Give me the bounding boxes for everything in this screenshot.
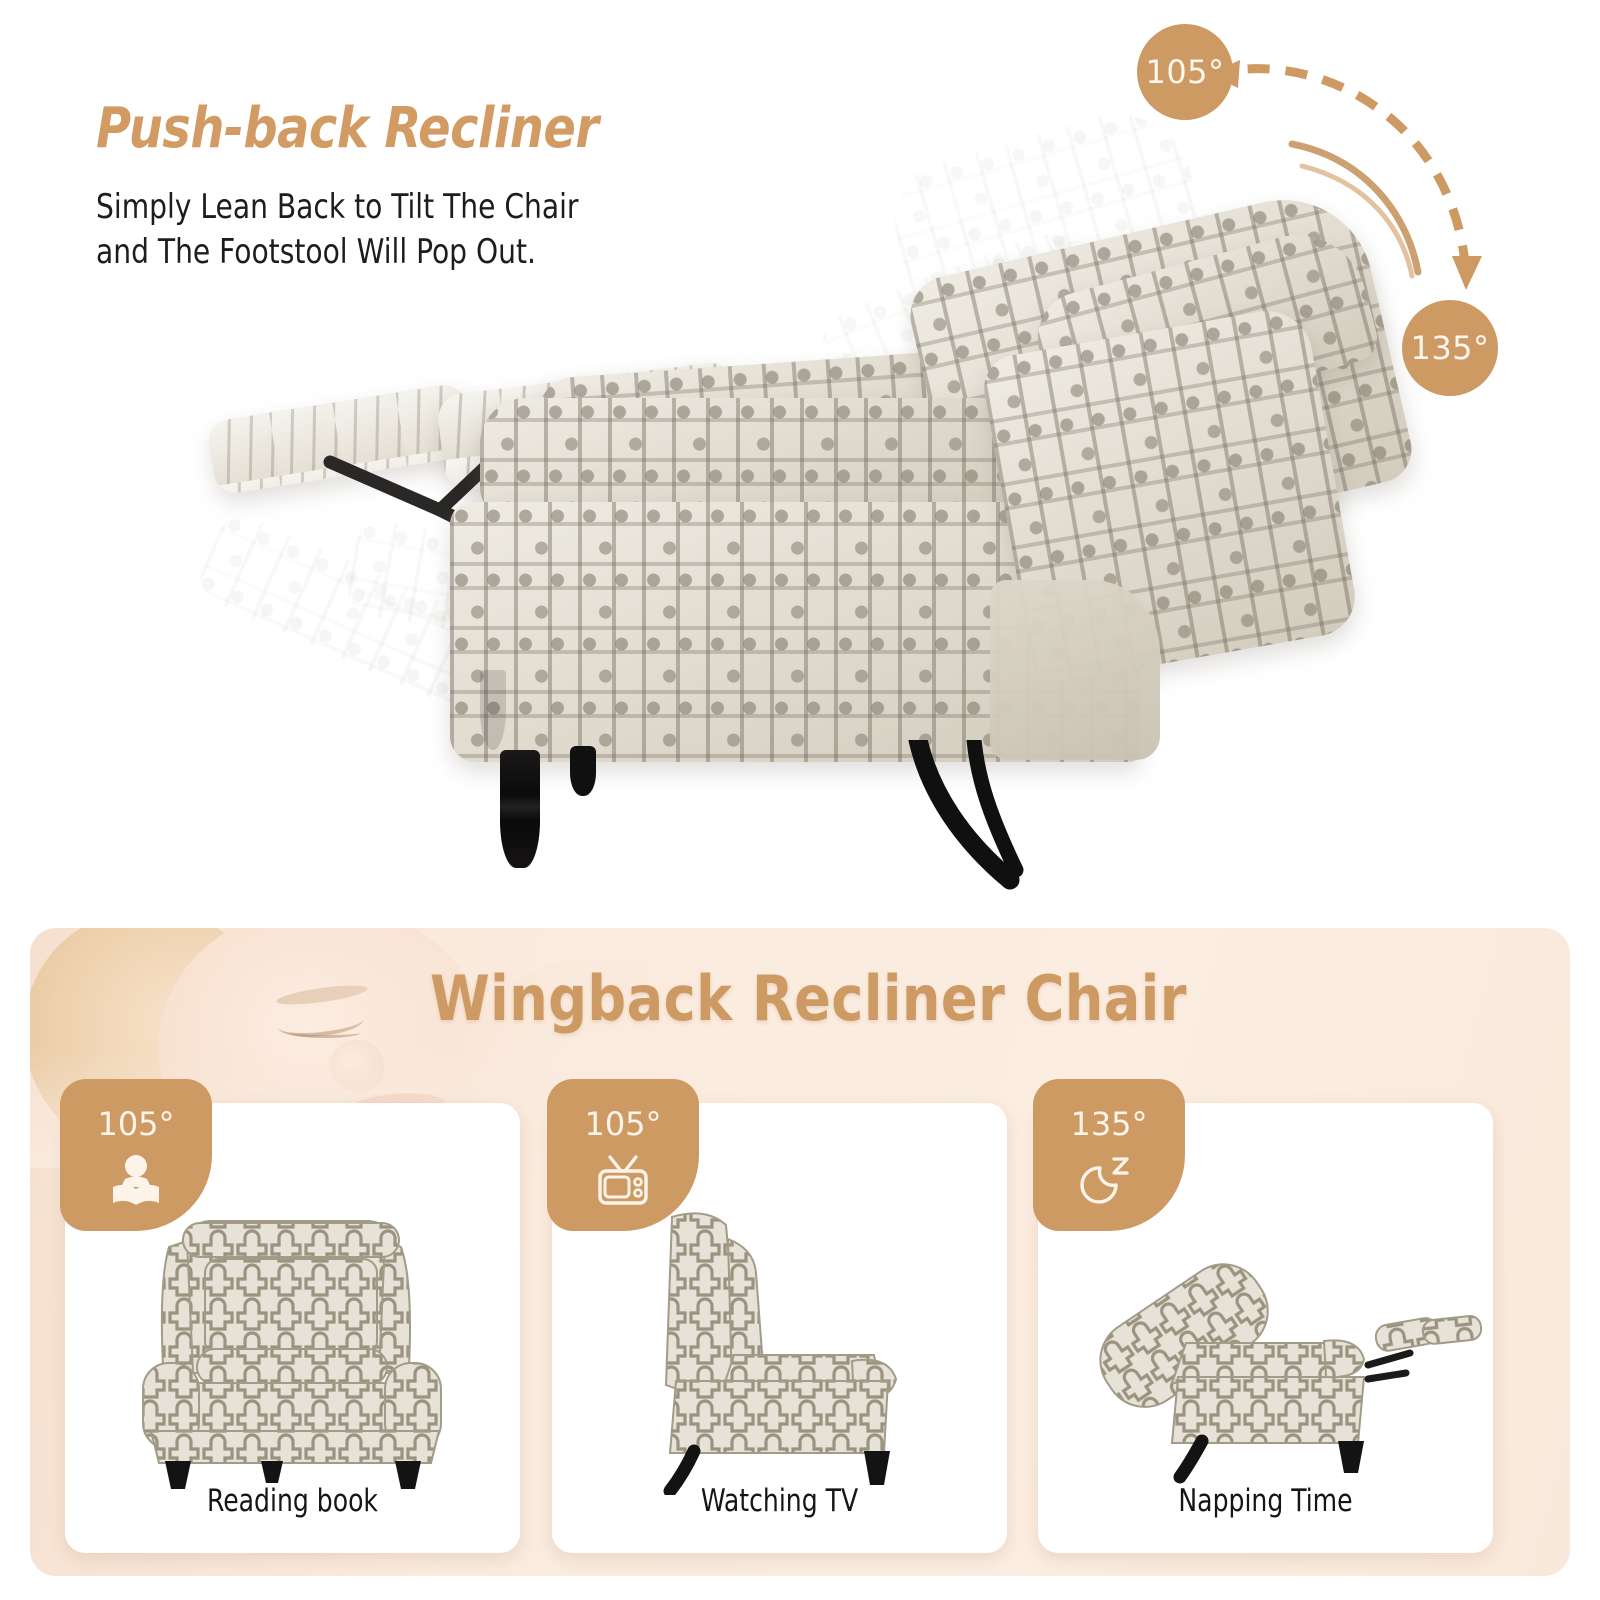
card-badge-reading: 105° <box>60 1079 212 1231</box>
angle-badge-105-label: 105° <box>1145 53 1224 91</box>
angle-badge-135: 135° <box>1402 300 1498 396</box>
scenario-card-tv[interactable]: 105° Watching TV <box>552 1103 1007 1553</box>
scenario-card-napping[interactable]: 135° Napping Time <box>1038 1103 1493 1553</box>
angle-badge-105: 105° <box>1137 24 1233 120</box>
recliner-mid-leg <box>570 746 596 796</box>
television-icon <box>594 1151 652 1209</box>
card-angle-label: 105° <box>584 1105 661 1143</box>
card-caption-reading: Reading book <box>88 1483 498 1519</box>
card-caption-tv: Watching TV <box>575 1483 985 1519</box>
angle-badge-135-label: 135° <box>1410 329 1489 367</box>
reading-person-icon <box>107 1151 165 1209</box>
wingback-recliner-reclined-view <box>1038 1195 1493 1495</box>
recliner-rear-leg <box>890 740 1050 890</box>
infographic-page: Push-back Recliner Simply Lean Back to T… <box>0 0 1600 1600</box>
scenario-card-reading[interactable]: 105° Reading book <box>65 1103 520 1553</box>
card-badge-tv: 105° <box>547 1079 699 1231</box>
moon-sleep-icon <box>1080 1151 1138 1209</box>
recline-arc-arrow-icon <box>1180 40 1540 360</box>
card-angle-label: 135° <box>1070 1105 1147 1143</box>
recliner-back-skirt <box>990 580 1160 760</box>
section-title: Wingback Recliner Chair <box>430 962 1187 1035</box>
recliner-ghost-leg <box>480 670 506 750</box>
wingback-recliner-front-view <box>65 1195 520 1495</box>
wingback-recliner-side-view <box>552 1195 1007 1495</box>
hero-section: Push-back Recliner Simply Lean Back to T… <box>0 0 1600 915</box>
card-caption-napping: Napping Time <box>1061 1483 1471 1519</box>
recliner-front-leg <box>500 750 540 868</box>
card-angle-label: 105° <box>97 1105 174 1143</box>
card-badge-napping: 135° <box>1033 1079 1185 1231</box>
